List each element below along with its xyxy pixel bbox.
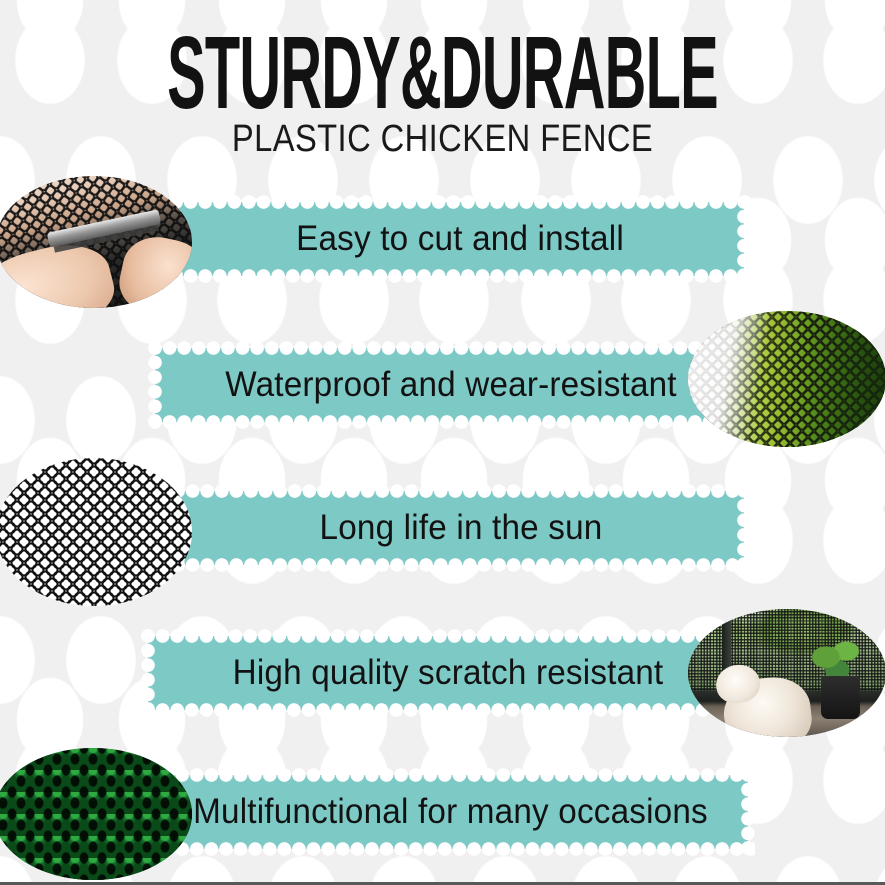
scallop-edge-top <box>171 484 751 498</box>
medallion-photo-inner <box>0 176 192 308</box>
photo-hands-cutting-mesh-with-scissors <box>0 176 192 308</box>
product-infographic-poster: STURDY&DURABLE PLASTIC CHICKEN FENCE Eas… <box>0 0 885 885</box>
feature-banner: Long life in the sun <box>178 491 744 565</box>
photo-black-hex-mesh-on-white <box>0 458 192 606</box>
poster-header: STURDY&DURABLE PLASTIC CHICKEN FENCE <box>0 0 885 161</box>
scallop-edge-left <box>148 341 162 429</box>
scallop-edge-bottom <box>171 558 751 572</box>
medallion-photo-inner <box>688 609 885 737</box>
page-subtitle: PLASTIC CHICKEN FENCE <box>62 92 823 161</box>
scallop-edge-top <box>146 768 755 782</box>
feature-row: High quality scratch resistant <box>0 599 885 747</box>
scallop-edge-top <box>148 341 754 355</box>
feature-banner: Multifunctional for many occasions <box>153 775 748 849</box>
feature-banner: Waterproof and wear-resistant <box>155 348 747 422</box>
feature-list: Easy to cut and install Waterproof and w… <box>0 168 885 885</box>
scallop-edge-top <box>169 195 751 209</box>
scallop-edge-left <box>141 629 155 717</box>
scallop-edge-bottom <box>141 703 755 717</box>
photo-dark-green-plastic-mesh <box>0 748 192 880</box>
plant-pot <box>821 676 861 720</box>
scallop-edge-bottom <box>146 842 755 856</box>
feature-banner: Easy to cut and install <box>176 202 744 276</box>
medallion-photo-inner <box>0 748 192 880</box>
photo-cat-at-window-with-mesh-screen <box>688 609 885 737</box>
feature-row: Easy to cut and install <box>0 168 885 316</box>
medallion-photo-inner <box>0 458 192 606</box>
scallop-edge-bottom <box>169 269 751 283</box>
feature-label: Easy to cut and install <box>190 219 730 259</box>
feature-label: Waterproof and wear-resistant <box>170 365 732 405</box>
feature-row: Waterproof and wear-resistant <box>0 311 885 459</box>
feature-row: Long life in the sun <box>0 456 885 604</box>
scallop-edge-top <box>141 629 755 643</box>
scallop-edge-right <box>737 484 751 572</box>
feature-label: High quality scratch resistant <box>163 653 733 693</box>
scallop-edge-right <box>741 768 755 856</box>
photo-black-hex-mesh-over-green-grass <box>688 311 885 447</box>
scallop-edge-right <box>737 195 751 283</box>
scallop-edge-bottom <box>148 415 754 429</box>
feature-label: Multifunctional for many occasions <box>168 792 733 832</box>
feature-row: Multifunctional for many occasions <box>0 740 885 885</box>
feature-label: Long life in the sun <box>192 508 730 548</box>
feature-banner: High quality scratch resistant <box>148 636 748 710</box>
medallion-photo-inner <box>688 311 885 447</box>
